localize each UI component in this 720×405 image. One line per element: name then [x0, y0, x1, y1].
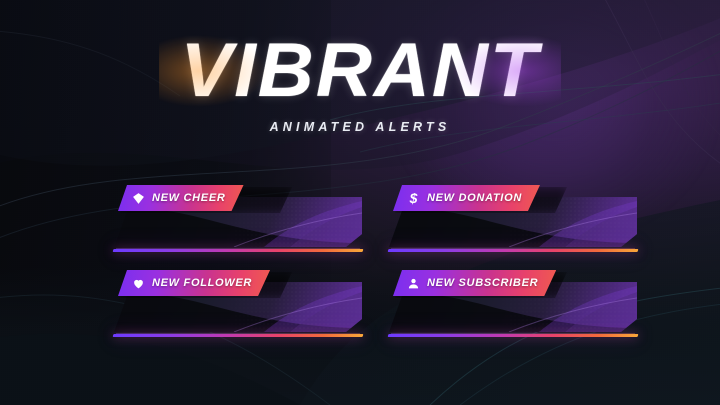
user-icon	[407, 277, 420, 290]
dollar-icon: $	[407, 191, 420, 205]
alert-badge-subscriber[interactable]: NEW SUBSCRIBER	[393, 270, 556, 296]
alert-bottom-edge	[113, 249, 364, 252]
alert-card-subscriber[interactable]: NEW SUBSCRIBER	[379, 270, 649, 340]
gem-icon	[132, 192, 145, 205]
page-title: VIBRANT	[181, 34, 540, 108]
page-subtitle: ANIMATED ALERTS	[0, 120, 720, 134]
alert-label: NEW SUBSCRIBER	[427, 277, 538, 289]
hero-block: VIBRANT ANIMATED ALERTS	[0, 34, 720, 134]
alert-pack-preview: VIBRANT ANIMATED ALERTS	[0, 0, 720, 405]
alert-bottom-edge	[388, 334, 639, 337]
alert-badge-cheer[interactable]: NEW CHEER	[118, 185, 244, 211]
heart-icon	[132, 277, 145, 290]
alert-card-cheer[interactable]: NEW CHEER	[104, 185, 374, 255]
alert-label: NEW CHEER	[152, 192, 226, 204]
alert-badge-donation[interactable]: $ NEW DONATION	[393, 185, 540, 211]
alert-bottom-edge	[388, 249, 639, 252]
alert-bottom-edge	[113, 334, 364, 337]
alert-label: NEW DONATION	[427, 192, 522, 204]
alert-label: NEW FOLLOWER	[152, 277, 252, 289]
alert-card-donation[interactable]: $ NEW DONATION	[379, 185, 649, 255]
page-title-text: VIBRANT	[181, 28, 540, 113]
alert-badge-follower[interactable]: NEW FOLLOWER	[118, 270, 270, 296]
alert-card-follower[interactable]: NEW FOLLOWER	[104, 270, 374, 340]
